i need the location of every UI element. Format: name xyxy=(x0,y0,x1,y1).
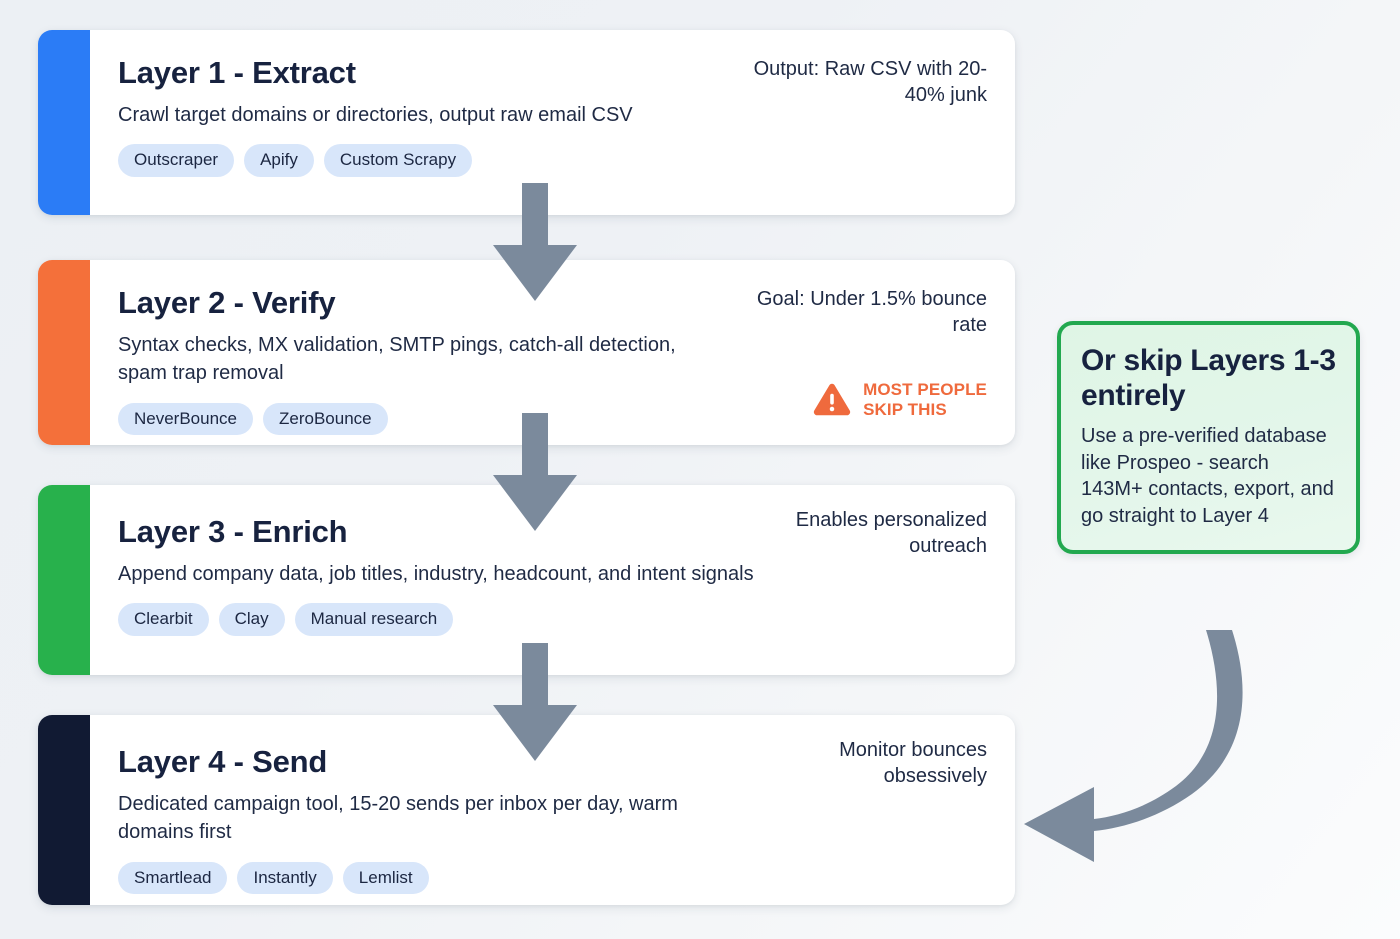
layer-body-3: Layer 3 - Enrich Append company data, jo… xyxy=(90,485,1015,675)
layer-description-2: Syntax checks, MX validation, SMTP pings… xyxy=(118,331,678,388)
layer-accent-bar-4 xyxy=(38,715,90,905)
curved-arrow-left-icon xyxy=(1010,630,1330,880)
layer-card-4[interactable]: Layer 4 - Send Dedicated campaign tool, … xyxy=(38,715,1015,905)
diagram-canvas: Layer 1 - Extract Crawl target domains o… xyxy=(0,0,1400,939)
layer-body-1: Layer 1 - Extract Crawl target domains o… xyxy=(90,30,1015,215)
tool-pill[interactable]: Instantly xyxy=(237,862,332,895)
callout-body: Use a pre-verified database like Prospeo… xyxy=(1081,423,1336,529)
warning-line-1: MOST PEOPLE xyxy=(863,380,987,401)
layer-accent-bar-3 xyxy=(38,485,90,675)
layer-description-3: Append company data, job titles, industr… xyxy=(118,560,758,588)
tool-pill[interactable]: ZeroBounce xyxy=(263,403,388,436)
tool-pill[interactable]: Custom Scrapy xyxy=(324,144,472,177)
layer-description-4: Dedicated campaign tool, 15-20 sends per… xyxy=(118,790,758,847)
tool-pill[interactable]: Lemlist xyxy=(343,862,429,895)
tool-pill[interactable]: Smartlead xyxy=(118,862,227,895)
layer-note-1: Output: Raw CSV with 20-40% junk xyxy=(737,56,987,109)
tool-pill[interactable]: Apify xyxy=(244,144,314,177)
layer-accent-bar-2 xyxy=(38,260,90,445)
tool-pill[interactable]: Clearbit xyxy=(118,603,209,636)
tool-pill[interactable]: Manual research xyxy=(295,603,454,636)
layer-card-2[interactable]: Layer 2 - Verify Syntax checks, MX valid… xyxy=(38,260,1015,445)
layer-note-4: Monitor bounces obsessively xyxy=(737,737,987,790)
warning-triangle-icon xyxy=(812,382,852,418)
layer-body-4: Layer 4 - Send Dedicated campaign tool, … xyxy=(90,715,1015,905)
callout-title: Or skip Layers 1-3 entirely xyxy=(1081,343,1336,413)
layer-note-2: Goal: Under 1.5% bounce rate xyxy=(737,286,987,339)
warning-text: MOST PEOPLE SKIP THIS xyxy=(863,380,987,421)
status-badge: MOST PEOPLE SKIP THIS xyxy=(812,380,987,421)
tool-pill[interactable]: Outscraper xyxy=(118,144,234,177)
layer-tool-pills-3: Clearbit Clay Manual research xyxy=(118,603,987,636)
tool-pill[interactable]: Clay xyxy=(219,603,285,636)
layer-tool-pills-1: Outscraper Apify Custom Scrapy xyxy=(118,144,987,177)
layer-description-1: Crawl target domains or directories, out… xyxy=(118,101,758,129)
tool-pill[interactable]: NeverBounce xyxy=(118,403,253,436)
layer-note-3: Enables personalized outreach xyxy=(737,507,987,560)
layer-card-3[interactable]: Layer 3 - Enrich Append company data, jo… xyxy=(38,485,1015,675)
layer-card-1[interactable]: Layer 1 - Extract Crawl target domains o… xyxy=(38,30,1015,215)
layer-accent-bar-1 xyxy=(38,30,90,215)
layer-body-2: Layer 2 - Verify Syntax checks, MX valid… xyxy=(90,260,1015,445)
warning-line-2: SKIP THIS xyxy=(863,400,987,421)
skip-layers-callout[interactable]: Or skip Layers 1-3 entirely Use a pre-ve… xyxy=(1057,321,1360,554)
layer-tool-pills-4: Smartlead Instantly Lemlist xyxy=(118,862,987,895)
